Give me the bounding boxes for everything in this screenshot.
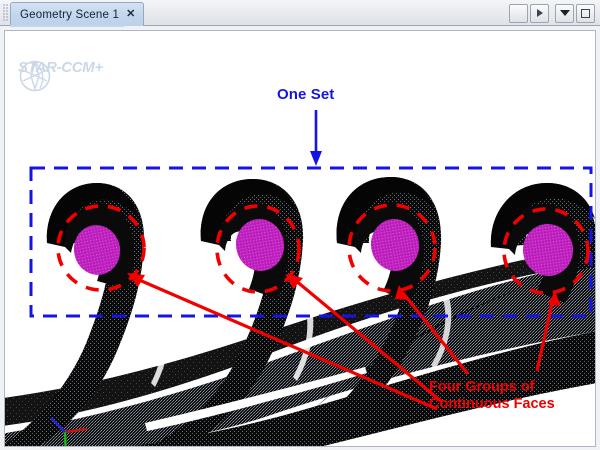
triangle-right-icon (537, 9, 543, 17)
tab-label: Geometry Scene 1 (20, 9, 119, 21)
close-icon[interactable]: ✕ (126, 9, 135, 20)
tab-geometry-scene-1[interactable]: Geometry Scene 1 ✕ (10, 2, 144, 26)
chevron-down-icon (560, 10, 570, 16)
one-set-label: One Set (277, 86, 334, 103)
geometry-scene-canvas[interactable]: STAR-CCM+ One Set Four Groups of Continu… (4, 30, 596, 447)
maximize-square-icon (581, 9, 590, 18)
four-groups-label-line2: Continuous Faces (429, 396, 555, 413)
geometry-scene-window: Geometry Scene 1 ✕ (0, 0, 600, 450)
four-groups-label-line1: Four Groups of (429, 379, 555, 396)
scroll-tabs-left-button[interactable] (509, 4, 528, 23)
scroll-tabs-right-button[interactable] (530, 4, 549, 23)
window-controls (509, 3, 595, 23)
four-groups-label: Four Groups of Continuous Faces (429, 379, 555, 413)
scene-container: STAR-CCM+ One Set Four Groups of Continu… (0, 27, 600, 450)
maximize-window-button[interactable] (576, 4, 595, 23)
tab-bar: Geometry Scene 1 ✕ (0, 0, 600, 26)
one-set-arrow (310, 110, 322, 166)
tab-list-dropdown-button[interactable] (555, 4, 574, 23)
tab-bar-grip-handle[interactable] (3, 4, 9, 23)
